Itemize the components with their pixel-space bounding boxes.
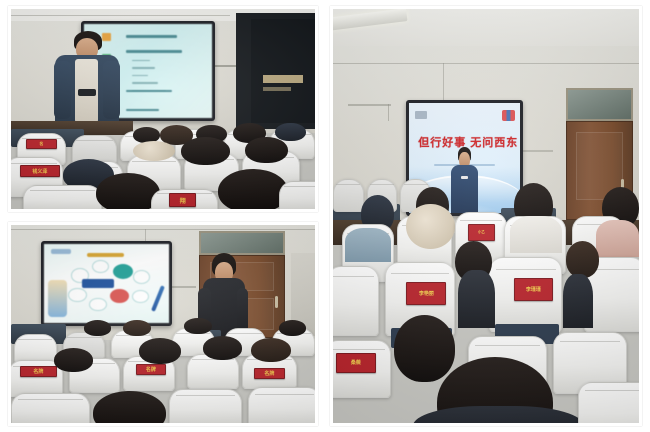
- photo-panel-right[interactable]: 但行好事 无问西东: [330, 6, 642, 426]
- seat-name-tag: 李瑾瑾: [514, 278, 554, 301]
- seat-name-tag: 桑薇: [336, 353, 376, 374]
- seat-name-tag: 翔: [169, 193, 196, 207]
- seat-name-tag: 名牌: [20, 366, 56, 378]
- seat-name-tag: 钱义泽: [20, 165, 60, 177]
- seat-name-tag: 名牌: [136, 364, 166, 376]
- slide-logo: [51, 249, 71, 255]
- slide-new-oriental: [44, 244, 169, 323]
- photo-panel-bottom-left[interactable]: 名牌 名牌 名牌: [8, 222, 318, 426]
- presenter-male: [54, 31, 121, 131]
- seat-name-tag: 名: [26, 139, 56, 149]
- photo-collage: 名 钱义泽 翔: [0, 0, 650, 432]
- attendee-head: [93, 391, 166, 423]
- seat-name-tag: 李艳丽: [406, 282, 446, 305]
- whiteboard-display-bottom-left: [41, 241, 172, 326]
- slide-logo-left: [415, 111, 427, 119]
- slide-brand-mark: [82, 279, 114, 288]
- fur-hood: [406, 204, 455, 250]
- slide-logo-right: [502, 110, 515, 121]
- seat-name-tag: 小乙: [468, 224, 496, 241]
- transom-window: [199, 231, 284, 255]
- seat-name-tag: 名牌: [254, 368, 284, 380]
- photo-panel-top-left[interactable]: 名 钱义泽 翔: [8, 6, 318, 212]
- transom-window: [566, 88, 633, 121]
